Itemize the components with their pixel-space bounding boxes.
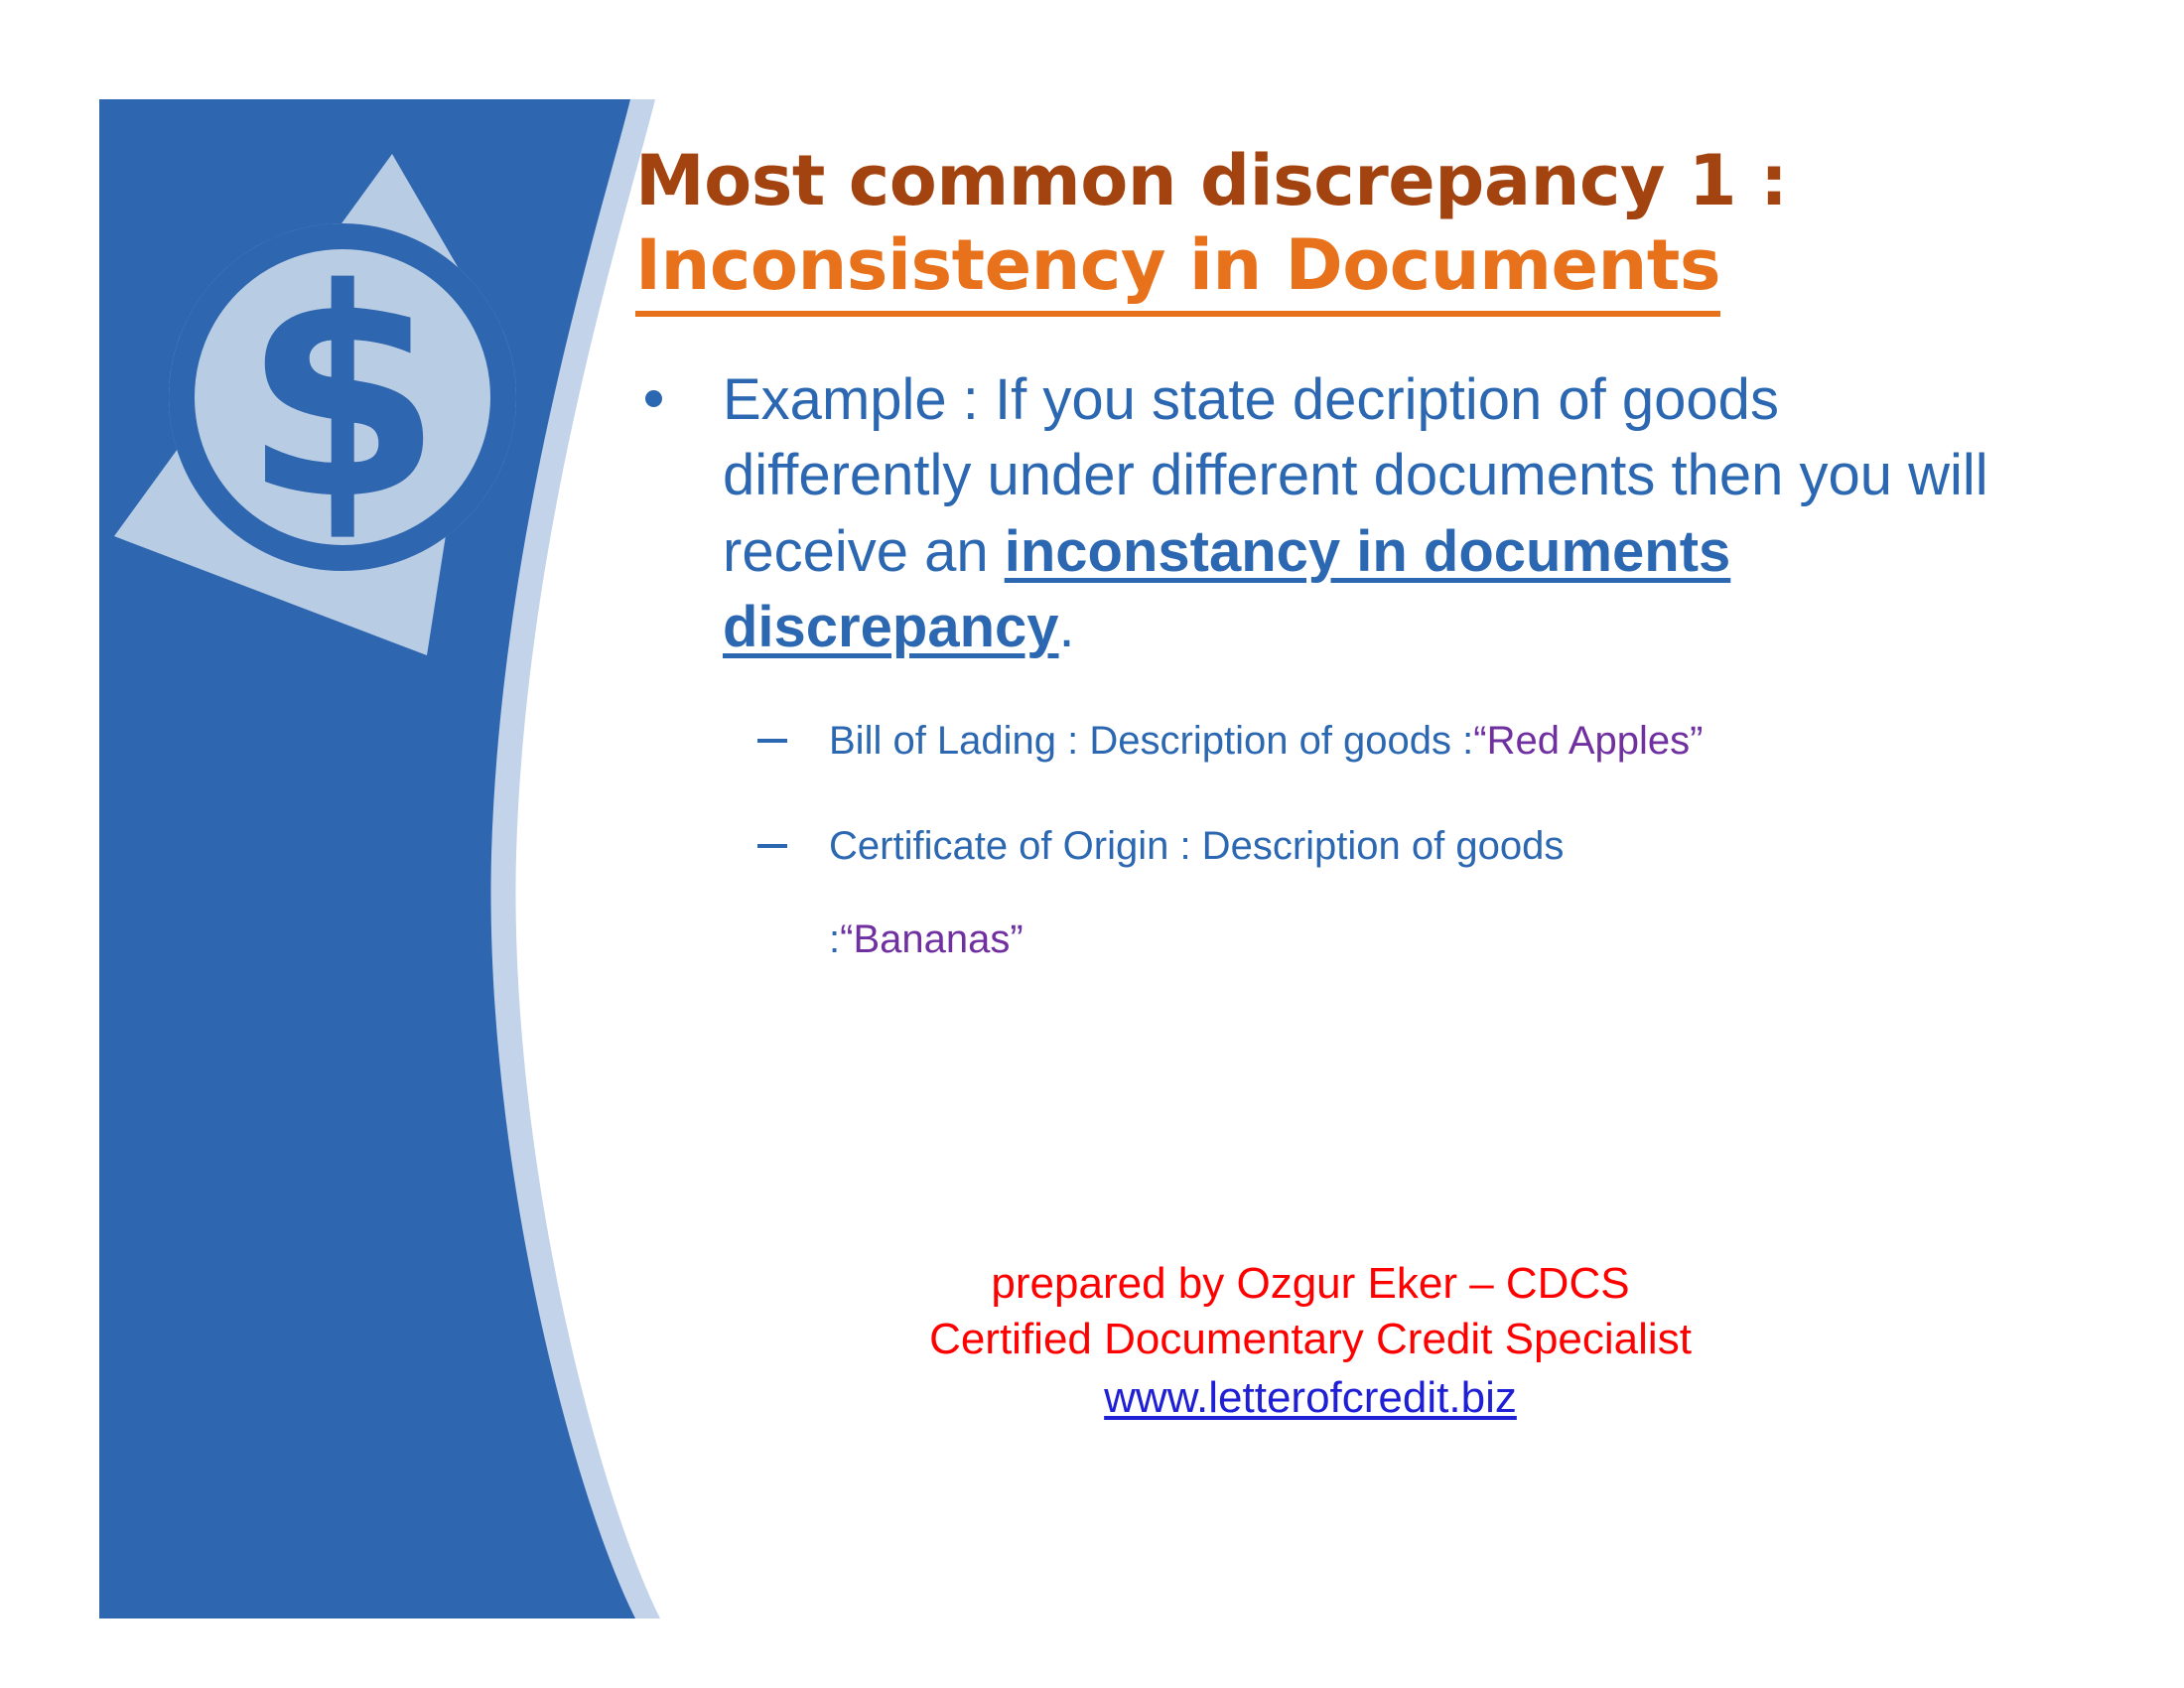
main-bullet-item: Example : If you state decription of goo… bbox=[635, 362, 2043, 666]
sub-bullet-bill-of-lading: Bill of Lading : Description of goods :“… bbox=[740, 714, 2124, 768]
left-blue-curved-panel: $ bbox=[99, 99, 665, 1618]
title-line-2-underlined: Inconsistency in Documents bbox=[635, 223, 1720, 316]
slide-content: Most common discrepancy 1 : Inconsistenc… bbox=[635, 139, 2124, 966]
sub-bullet-2-colon: : bbox=[829, 917, 840, 961]
dash-marker-icon bbox=[757, 844, 787, 848]
footer-credits: prepared by Ozgur Eker – CDCS Certified … bbox=[635, 1256, 1985, 1426]
sub-bullet-certificate-of-origin: Certificate of Origin : Description of g… bbox=[740, 819, 2124, 873]
credit-line-1: prepared by Ozgur Eker – CDCS bbox=[635, 1256, 1985, 1312]
sub-bullet-2-continuation: :“Bananas” bbox=[829, 913, 2124, 966]
title-line-2: Inconsistency in Documents bbox=[635, 223, 2124, 316]
sub-bullet-2-label: Certificate of Origin : Description of g… bbox=[829, 824, 1564, 868]
page-title: Most common discrepancy 1 : Inconsistenc… bbox=[635, 139, 2124, 317]
sub-bullet-2-value: “Bananas” bbox=[840, 917, 1024, 961]
dash-marker-icon bbox=[757, 739, 787, 743]
website-link[interactable]: www.letterofcredit.biz bbox=[1104, 1370, 1517, 1426]
bullet-dot-icon bbox=[645, 390, 662, 407]
sub-bullet-1-value: “Red Apples” bbox=[1473, 719, 1703, 763]
title-line-1: Most common discrepancy 1 : bbox=[635, 139, 2124, 223]
slide-canvas: $ Most common discrepancy 1 : Inconsiste… bbox=[0, 0, 2184, 1688]
sub-bullet-1-label: Bill of Lading : Description of goods : bbox=[829, 719, 1473, 763]
dollar-sign-icon: $ bbox=[242, 228, 443, 563]
credit-line-2: Certified Documentary Credit Specialist bbox=[635, 1312, 1985, 1367]
main-bullet-text-after: . bbox=[1059, 595, 1075, 659]
